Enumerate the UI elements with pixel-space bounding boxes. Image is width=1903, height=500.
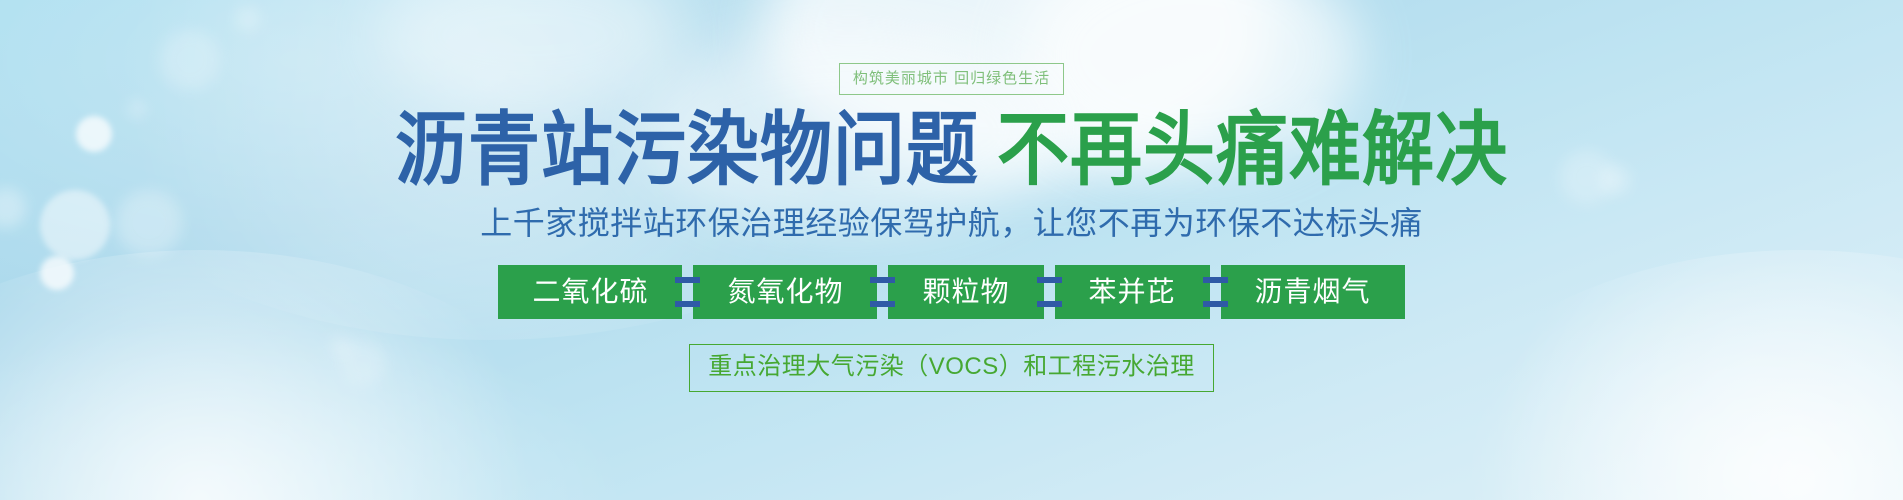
headline-green-text: 不再头痛难解决 bbox=[997, 102, 1508, 196]
separator-dash-bottom bbox=[870, 301, 895, 307]
subtitle: 上千家搅拌站环保治理经验保驾护航，让您不再为环保不达标头痛 bbox=[480, 207, 1423, 239]
separator-dash-bottom bbox=[1203, 301, 1228, 307]
tag-particulates[interactable]: 颗粒物 bbox=[888, 265, 1043, 319]
focus-note-box: 重点治理大气污染（VOCS）和工程污水治理 bbox=[689, 344, 1214, 392]
separator-dash-top bbox=[675, 277, 700, 283]
tagline-box: 构筑美丽城市 回归绿色生活 bbox=[839, 63, 1064, 95]
pollutant-tag-row: 二氧化硫 氮氧化物 颗粒物 苯并芘 沥青烟气 bbox=[498, 265, 1404, 319]
separator-dash-top bbox=[1037, 277, 1062, 283]
separator-dash-bottom bbox=[675, 301, 700, 307]
headline-blue-text: 沥青站污染物问题 bbox=[395, 102, 979, 196]
tag-separator bbox=[682, 265, 693, 319]
banner-content: 构筑美丽城市 回归绿色生活 沥青站污染物问题不再头痛难解决 上千家搅拌站环保治理… bbox=[0, 0, 1903, 500]
separator-dash-bottom bbox=[1037, 301, 1062, 307]
tag-benzopyrene[interactable]: 苯并芘 bbox=[1055, 265, 1210, 319]
tag-separator bbox=[1210, 265, 1221, 319]
headline: 沥青站污染物问题不再头痛难解决 bbox=[395, 109, 1508, 190]
separator-dash-top bbox=[870, 277, 895, 283]
tag-separator bbox=[877, 265, 888, 319]
tag-so2[interactable]: 二氧化硫 bbox=[498, 265, 682, 319]
tag-asphalt-fume[interactable]: 沥青烟气 bbox=[1221, 265, 1405, 319]
hero-banner: 构筑美丽城市 回归绿色生活 沥青站污染物问题不再头痛难解决 上千家搅拌站环保治理… bbox=[0, 0, 1903, 500]
tag-separator bbox=[1044, 265, 1055, 319]
separator-dash-top bbox=[1203, 277, 1228, 283]
tag-nox[interactable]: 氮氧化物 bbox=[693, 265, 877, 319]
